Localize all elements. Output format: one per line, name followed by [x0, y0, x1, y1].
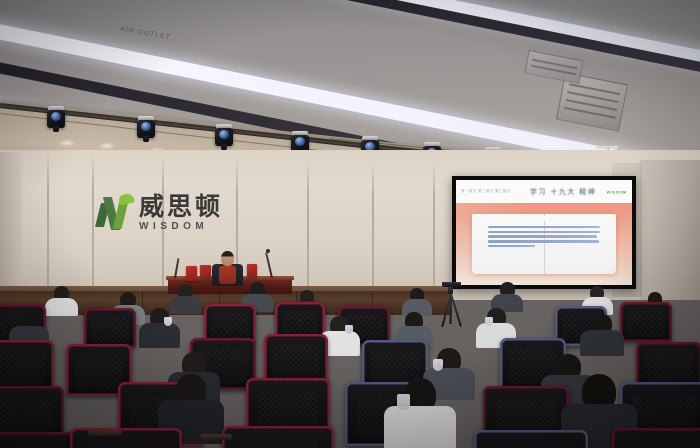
slide-title: 学习 十九大 精神	[530, 187, 596, 197]
company-logo: 威思顿 WISDOM	[97, 193, 223, 233]
auditorium-seat	[70, 428, 182, 448]
face-mask	[345, 325, 353, 334]
microphone-capsule	[266, 249, 270, 253]
face-mask	[397, 394, 410, 410]
slide-brand-mark: WISDOM	[607, 189, 628, 194]
slide-body-text	[488, 226, 601, 248]
stage-light-icon	[215, 124, 233, 150]
audience-area	[0, 282, 700, 448]
conference-hall-photo: AIR OUTLET	[0, 0, 700, 448]
wisdom-w-mark-icon	[97, 193, 135, 233]
auditorium-seat	[84, 308, 136, 348]
seat-armrest	[200, 434, 232, 440]
logo-english-name: WISDOM	[139, 222, 223, 232]
auditorium-seat	[0, 340, 54, 392]
slide-header: 第一部分 第二部分 第三部分 学习 十九大 精神 WISDOM	[456, 180, 632, 203]
presentation-slide: 第一部分 第二部分 第三部分 学习 十九大 精神 WISDOM	[456, 180, 632, 285]
right-side-wall	[640, 160, 700, 300]
projection-screen: 第一部分 第二部分 第三部分 学习 十九大 精神 WISDOM	[452, 176, 636, 289]
open-book-graphic	[472, 214, 616, 275]
auditorium-seat	[222, 426, 334, 448]
stage-light-icon	[47, 106, 65, 132]
stage-light-icon	[137, 116, 155, 142]
logo-chinese-name: 威思顿	[139, 194, 223, 219]
face-mask	[485, 317, 493, 326]
auditorium-seat	[612, 428, 700, 448]
red-booklet	[247, 264, 257, 278]
face-mask	[164, 317, 172, 326]
auditorium-seat	[474, 430, 588, 448]
slide-body	[456, 203, 632, 285]
seat-armrest	[88, 430, 122, 436]
ceiling-label: AIR OUTLET	[120, 26, 172, 42]
slide-breadcrumb: 第一部分 第二部分 第三部分	[461, 189, 511, 194]
ceiling-grille-icon	[524, 50, 584, 84]
left-side-wall	[0, 152, 22, 302]
presenter-head	[221, 251, 234, 266]
auditorium-seat	[620, 302, 672, 342]
red-booklet	[200, 265, 211, 278]
face-mask	[433, 359, 443, 371]
red-booklet	[186, 266, 197, 281]
